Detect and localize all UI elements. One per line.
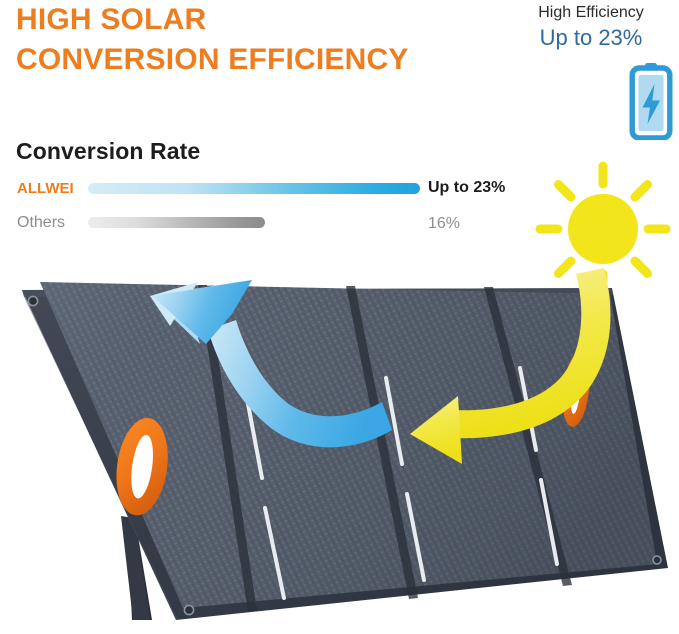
bar-track-allwei bbox=[88, 183, 420, 194]
headline-line-2: CONVERSION EFFICIENCY bbox=[16, 40, 536, 80]
headline-line-1: HIGH SOLAR bbox=[16, 0, 536, 40]
conversion-rate-title: Conversion Rate bbox=[16, 138, 200, 165]
efficiency-callout: High Efficiency Up to 23% bbox=[511, 2, 671, 52]
foldable-solar-panel bbox=[0, 268, 679, 634]
bar-fill-others bbox=[88, 217, 265, 228]
bar-fill-allwei bbox=[88, 183, 420, 194]
bar-label-others: Others bbox=[17, 213, 65, 233]
bar-value-allwei: Up to 23% bbox=[428, 177, 505, 199]
efficiency-value: Up to 23% bbox=[511, 24, 671, 52]
bar-label-allwei: ALLWEI bbox=[17, 179, 74, 199]
conversion-rate-row-allwei: ALLWEI Up to 23% bbox=[0, 177, 540, 203]
battery-charging-icon bbox=[629, 62, 673, 140]
bar-value-others: 16% bbox=[428, 213, 460, 235]
conversion-rate-row-others: Others 16% bbox=[0, 211, 540, 237]
marketing-image-canvas: HIGH SOLAR CONVERSION EFFICIENCY High Ef… bbox=[0, 0, 679, 634]
bar-track-others bbox=[88, 217, 265, 228]
efficiency-label: High Efficiency bbox=[511, 2, 671, 24]
page-title: HIGH SOLAR CONVERSION EFFICIENCY bbox=[16, 0, 536, 80]
